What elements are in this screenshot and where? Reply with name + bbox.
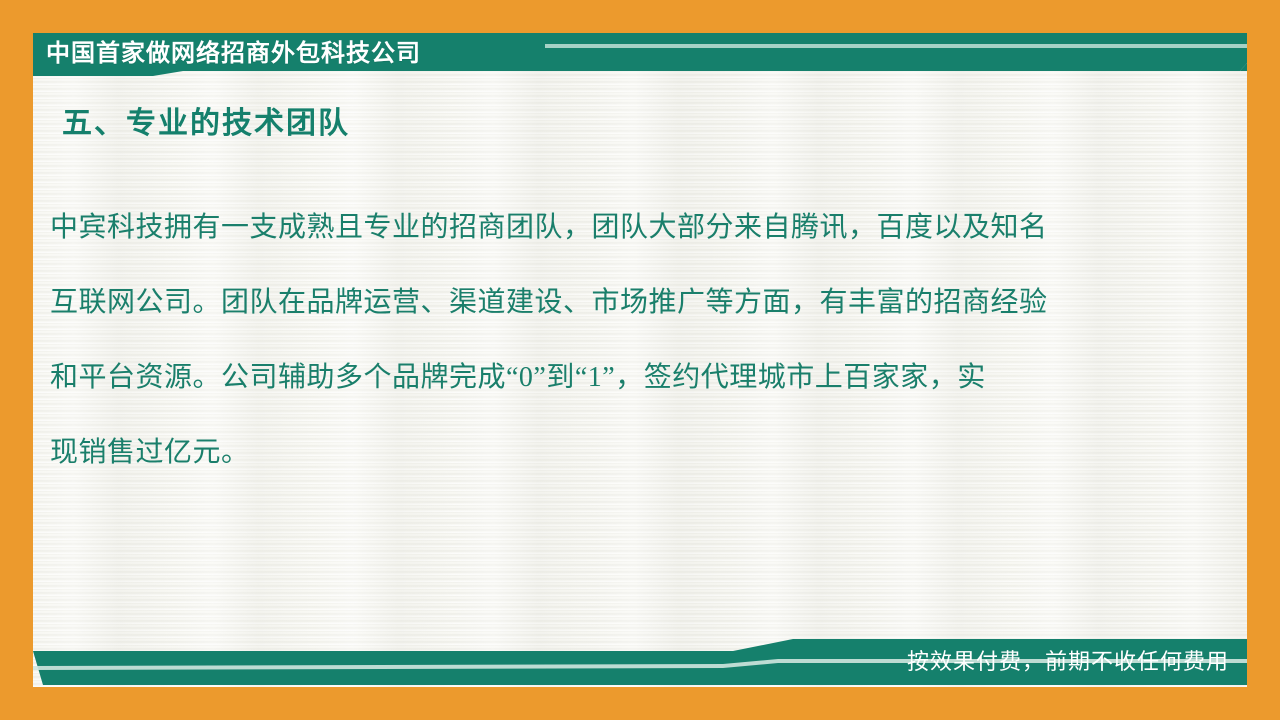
slide-content: 五、专业的技术团队 中宾科技拥有一支成熟且专业的招商团队，团队大部分来自腾讯，百… bbox=[50, 100, 1210, 490]
header-hairline bbox=[545, 44, 1247, 48]
body-paragraph: 中宾科技拥有一支成熟且专业的招商团队，团队大部分来自腾讯，百度以及知名 互联网公… bbox=[50, 190, 1190, 490]
body-line: 现销售过亿元。 bbox=[50, 415, 1190, 490]
slide-canvas: 中国首家做网络招商外包科技公司 五、专业的技术团队 中宾科技拥有一支成熟且专业的… bbox=[0, 0, 1280, 720]
section-heading: 五、专业的技术团队 bbox=[62, 100, 1210, 148]
body-line: 互联网公司。团队在品牌运营、渠道建设、市场推广等方面，有丰富的招商经验 bbox=[50, 265, 1190, 340]
body-line: 中宾科技拥有一支成熟且专业的招商团队，团队大部分来自腾讯，百度以及知名 bbox=[50, 190, 1190, 265]
footer-tagline: 按效果付费，前期不收任何费用 bbox=[907, 647, 1229, 677]
header-title: 中国首家做网络招商外包科技公司 bbox=[46, 38, 421, 70]
header-band: 中国首家做网络招商外包科技公司 bbox=[33, 33, 1247, 81]
body-line: 和平台资源。公司辅助多个品牌完成“0”到“1”，签约代理城市上百家家，实 bbox=[50, 340, 1190, 415]
footer-band: 按效果付费，前期不收任何费用 bbox=[33, 639, 1247, 687]
